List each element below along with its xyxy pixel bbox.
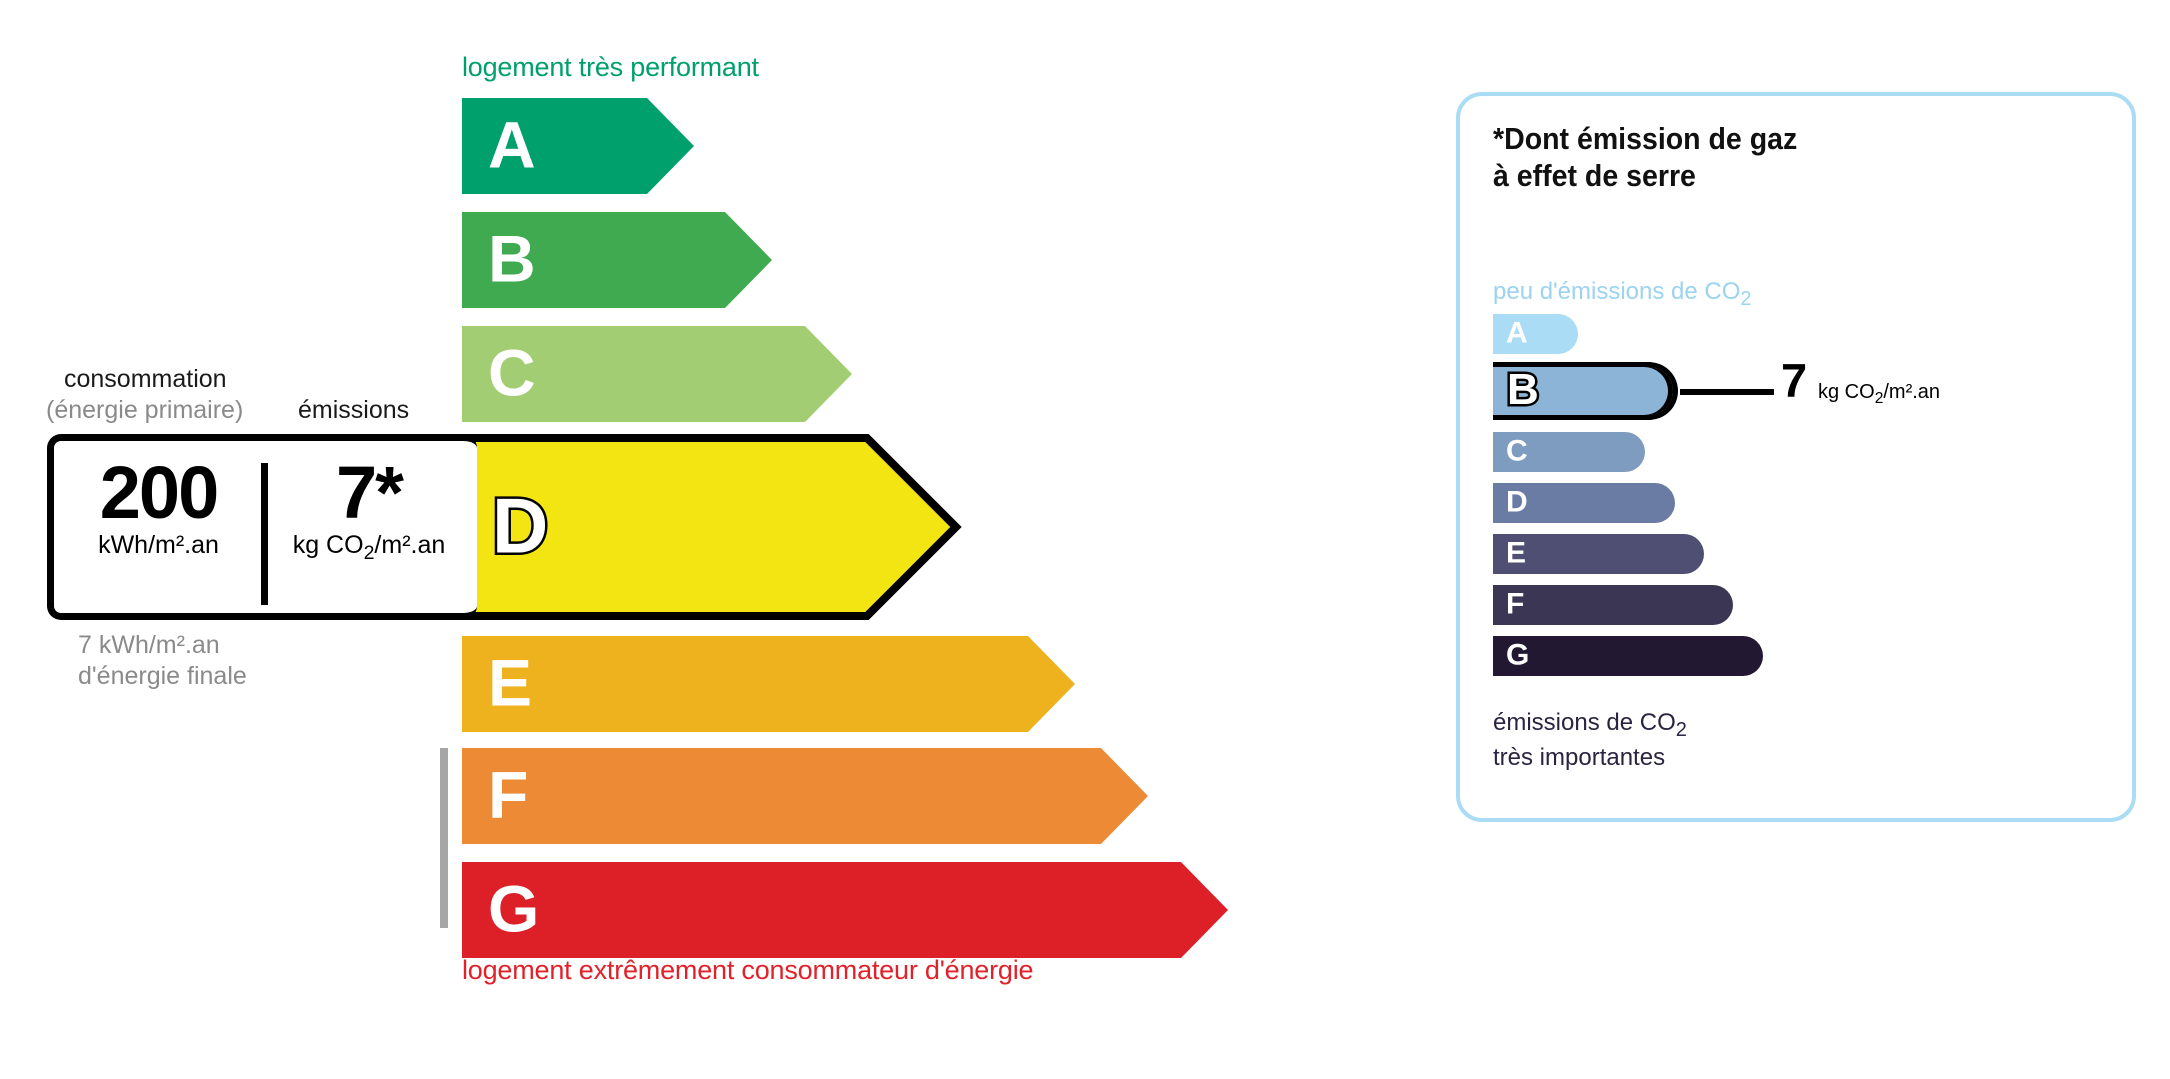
- co2-bar-shape-g: G: [1493, 636, 1763, 676]
- energy-bar-letter-a: A: [488, 112, 536, 178]
- emission-value: 7*: [268, 455, 470, 530]
- energy-bar-letter-g: G: [488, 876, 539, 942]
- energy-bar-letter-b: B: [488, 226, 536, 292]
- label-consommation: consommation: [64, 365, 227, 394]
- co2-top-caption-sub: 2: [1740, 288, 1751, 310]
- emission-unit-sub: 2: [364, 542, 375, 564]
- arrow-polygon-g: [462, 862, 1228, 958]
- energy-bar-letter-d: D: [492, 486, 548, 564]
- co2-top-caption: peu d'émissions de CO2: [1493, 278, 1752, 311]
- consumption-unit-sup: ²: [176, 531, 184, 559]
- co2-bar-a[interactable]: A: [1493, 314, 1578, 354]
- arrow-polygon-f: [462, 748, 1148, 844]
- co2-bar-shape-b: B: [1493, 362, 1678, 420]
- consumption-unit: kWh/m².an: [56, 532, 261, 560]
- consumption-cell: 200 kWh/m².an: [56, 455, 261, 560]
- consumption-value: 200: [56, 455, 261, 530]
- emission-unit-prefix: kg CO: [293, 531, 364, 559]
- co2-top-caption-text: peu d'émissions de CO: [1493, 278, 1740, 305]
- co2-panel: *Dont émission de gaz à effet de serre p…: [1456, 92, 2136, 822]
- consumption-unit-tail: .an: [184, 531, 219, 559]
- energy-bar-letter-c: C: [488, 340, 536, 406]
- co2-bar-c[interactable]: C: [1493, 432, 1645, 472]
- emission-cell: 7* kg CO2/m².an: [268, 455, 470, 565]
- co2-bar-letter-d: D: [1506, 487, 1528, 517]
- co2-bar-shape-c: C: [1493, 432, 1645, 472]
- arrow-shape-g: [462, 862, 1228, 958]
- co2-bar-letter-c: C: [1506, 436, 1528, 466]
- co2-bottom-caption-line2: très importantes: [1493, 743, 1687, 773]
- dpe-energy-diagram: logement très performant A B C: [0, 0, 1400, 1079]
- arrow-shape-f: [462, 748, 1148, 844]
- co2-bar-shape-f: F: [1493, 585, 1733, 625]
- energy-bar-e[interactable]: E: [462, 636, 1075, 732]
- energy-bottom-caption: logement extrêmement consommateur d'éner…: [462, 955, 1033, 986]
- co2-bottom-caption-text: émissions de CO: [1493, 709, 1676, 736]
- co2-value-unit-prefix: kg CO: [1818, 381, 1875, 403]
- final-energy-line1: 7 kWh/m².an: [78, 630, 247, 661]
- co2-value: 7: [1781, 357, 1807, 404]
- co2-panel-title: *Dont émission de gaz à effet de serre: [1493, 121, 1797, 194]
- co2-bar-g[interactable]: G: [1493, 636, 1763, 676]
- co2-bar-letter-e: E: [1506, 538, 1526, 568]
- value-box: 200 kWh/m².an 7* kg CO2/m².an: [47, 434, 477, 620]
- co2-title-line2: à effet de serre: [1493, 158, 1797, 195]
- co2-bar-e[interactable]: E: [1493, 534, 1704, 574]
- co2-bar-shape-d: D: [1493, 483, 1675, 523]
- label-emissions: émissions: [298, 396, 409, 425]
- energy-bar-letter-e: E: [488, 650, 532, 716]
- energy-top-caption: logement très performant: [462, 52, 759, 83]
- co2-bar-letter-g: G: [1506, 640, 1529, 670]
- energy-bar-d-selected[interactable]: D: [462, 434, 962, 620]
- co2-value-unit-tail: /m².an: [1883, 381, 1940, 403]
- co2-leader-line: [1680, 389, 1774, 395]
- consumption-unit-text: kWh/m: [98, 531, 176, 559]
- energy-bar-g[interactable]: G: [462, 862, 1228, 958]
- label-energie-primaire: (énergie primaire): [46, 396, 243, 425]
- co2-bar-d[interactable]: D: [1493, 483, 1675, 523]
- co2-bar-shape-a: A: [1493, 314, 1578, 354]
- co2-value-unit: kg CO2/m².an: [1818, 381, 1940, 408]
- co2-bottom-caption-line1: émissions de CO2: [1493, 708, 1687, 743]
- energy-bar-c[interactable]: C: [462, 326, 852, 422]
- arrow-polygon-e: [462, 636, 1075, 732]
- emission-unit: kg CO2/m².an: [268, 532, 470, 564]
- energy-bar-a[interactable]: A: [462, 98, 694, 194]
- co2-bar-letter-f: F: [1506, 589, 1524, 619]
- co2-bar-letter-a: A: [1506, 318, 1528, 348]
- energy-bar-b[interactable]: B: [462, 212, 772, 308]
- final-energy-line2: d'énergie finale: [78, 661, 247, 692]
- co2-title-line1: *Dont émission de gaz: [1493, 121, 1797, 158]
- co2-bottom-caption: émissions de CO2 très importantes: [1493, 708, 1687, 773]
- energy-bar-f[interactable]: F: [462, 748, 1148, 844]
- value-box-divider: [261, 463, 268, 605]
- co2-bar-letter-b: B: [1507, 368, 1539, 412]
- co2-bar-shape-e: E: [1493, 534, 1704, 574]
- emission-unit-tail: /m².an: [374, 531, 445, 559]
- arrow-shape-e: [462, 636, 1075, 732]
- final-energy-note: 7 kWh/m².an d'énergie finale: [78, 630, 247, 692]
- co2-bottom-caption-sub: 2: [1676, 719, 1687, 741]
- passoire-indicator-bar: [440, 748, 448, 928]
- co2-bar-b-selected[interactable]: B 7 kg CO2/m².an: [1493, 362, 1678, 420]
- co2-bar-f[interactable]: F: [1493, 585, 1733, 625]
- energy-bar-letter-f: F: [488, 762, 528, 828]
